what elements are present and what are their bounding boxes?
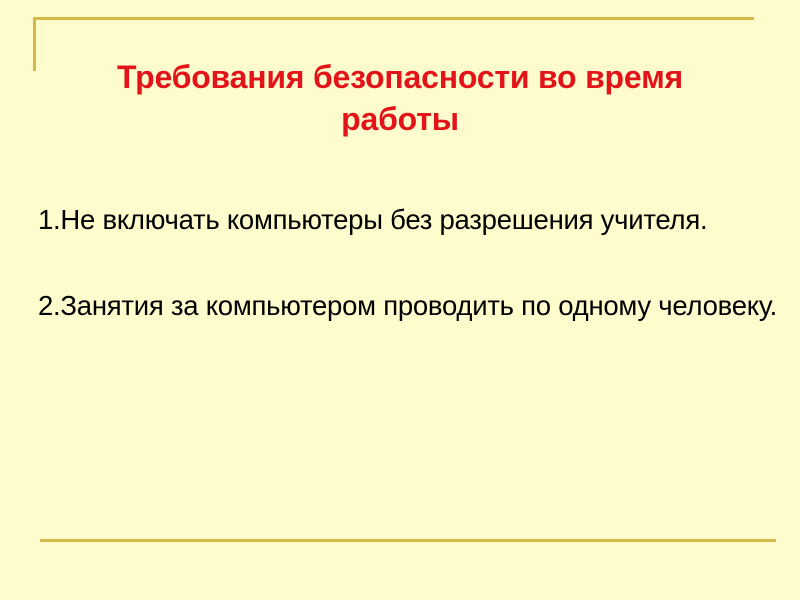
decorative-bottom-rule <box>40 539 776 542</box>
slide-title: Требования безопасности во время работы <box>60 56 740 140</box>
slide-body: 1.Не включать компьютеры без разрешения … <box>38 198 786 328</box>
slide-title-line-1: Требования безопасности во время <box>60 56 740 98</box>
decorative-left-rule <box>33 17 36 71</box>
slide-title-line-2: работы <box>60 98 740 140</box>
list-item: 1.Не включать компьютеры без разрешения … <box>38 198 786 242</box>
list-item: 2.Занятия за компьютером проводить по од… <box>38 284 786 328</box>
decorative-top-rule <box>33 17 754 20</box>
presentation-slide: Требования безопасности во время работы … <box>0 0 800 600</box>
